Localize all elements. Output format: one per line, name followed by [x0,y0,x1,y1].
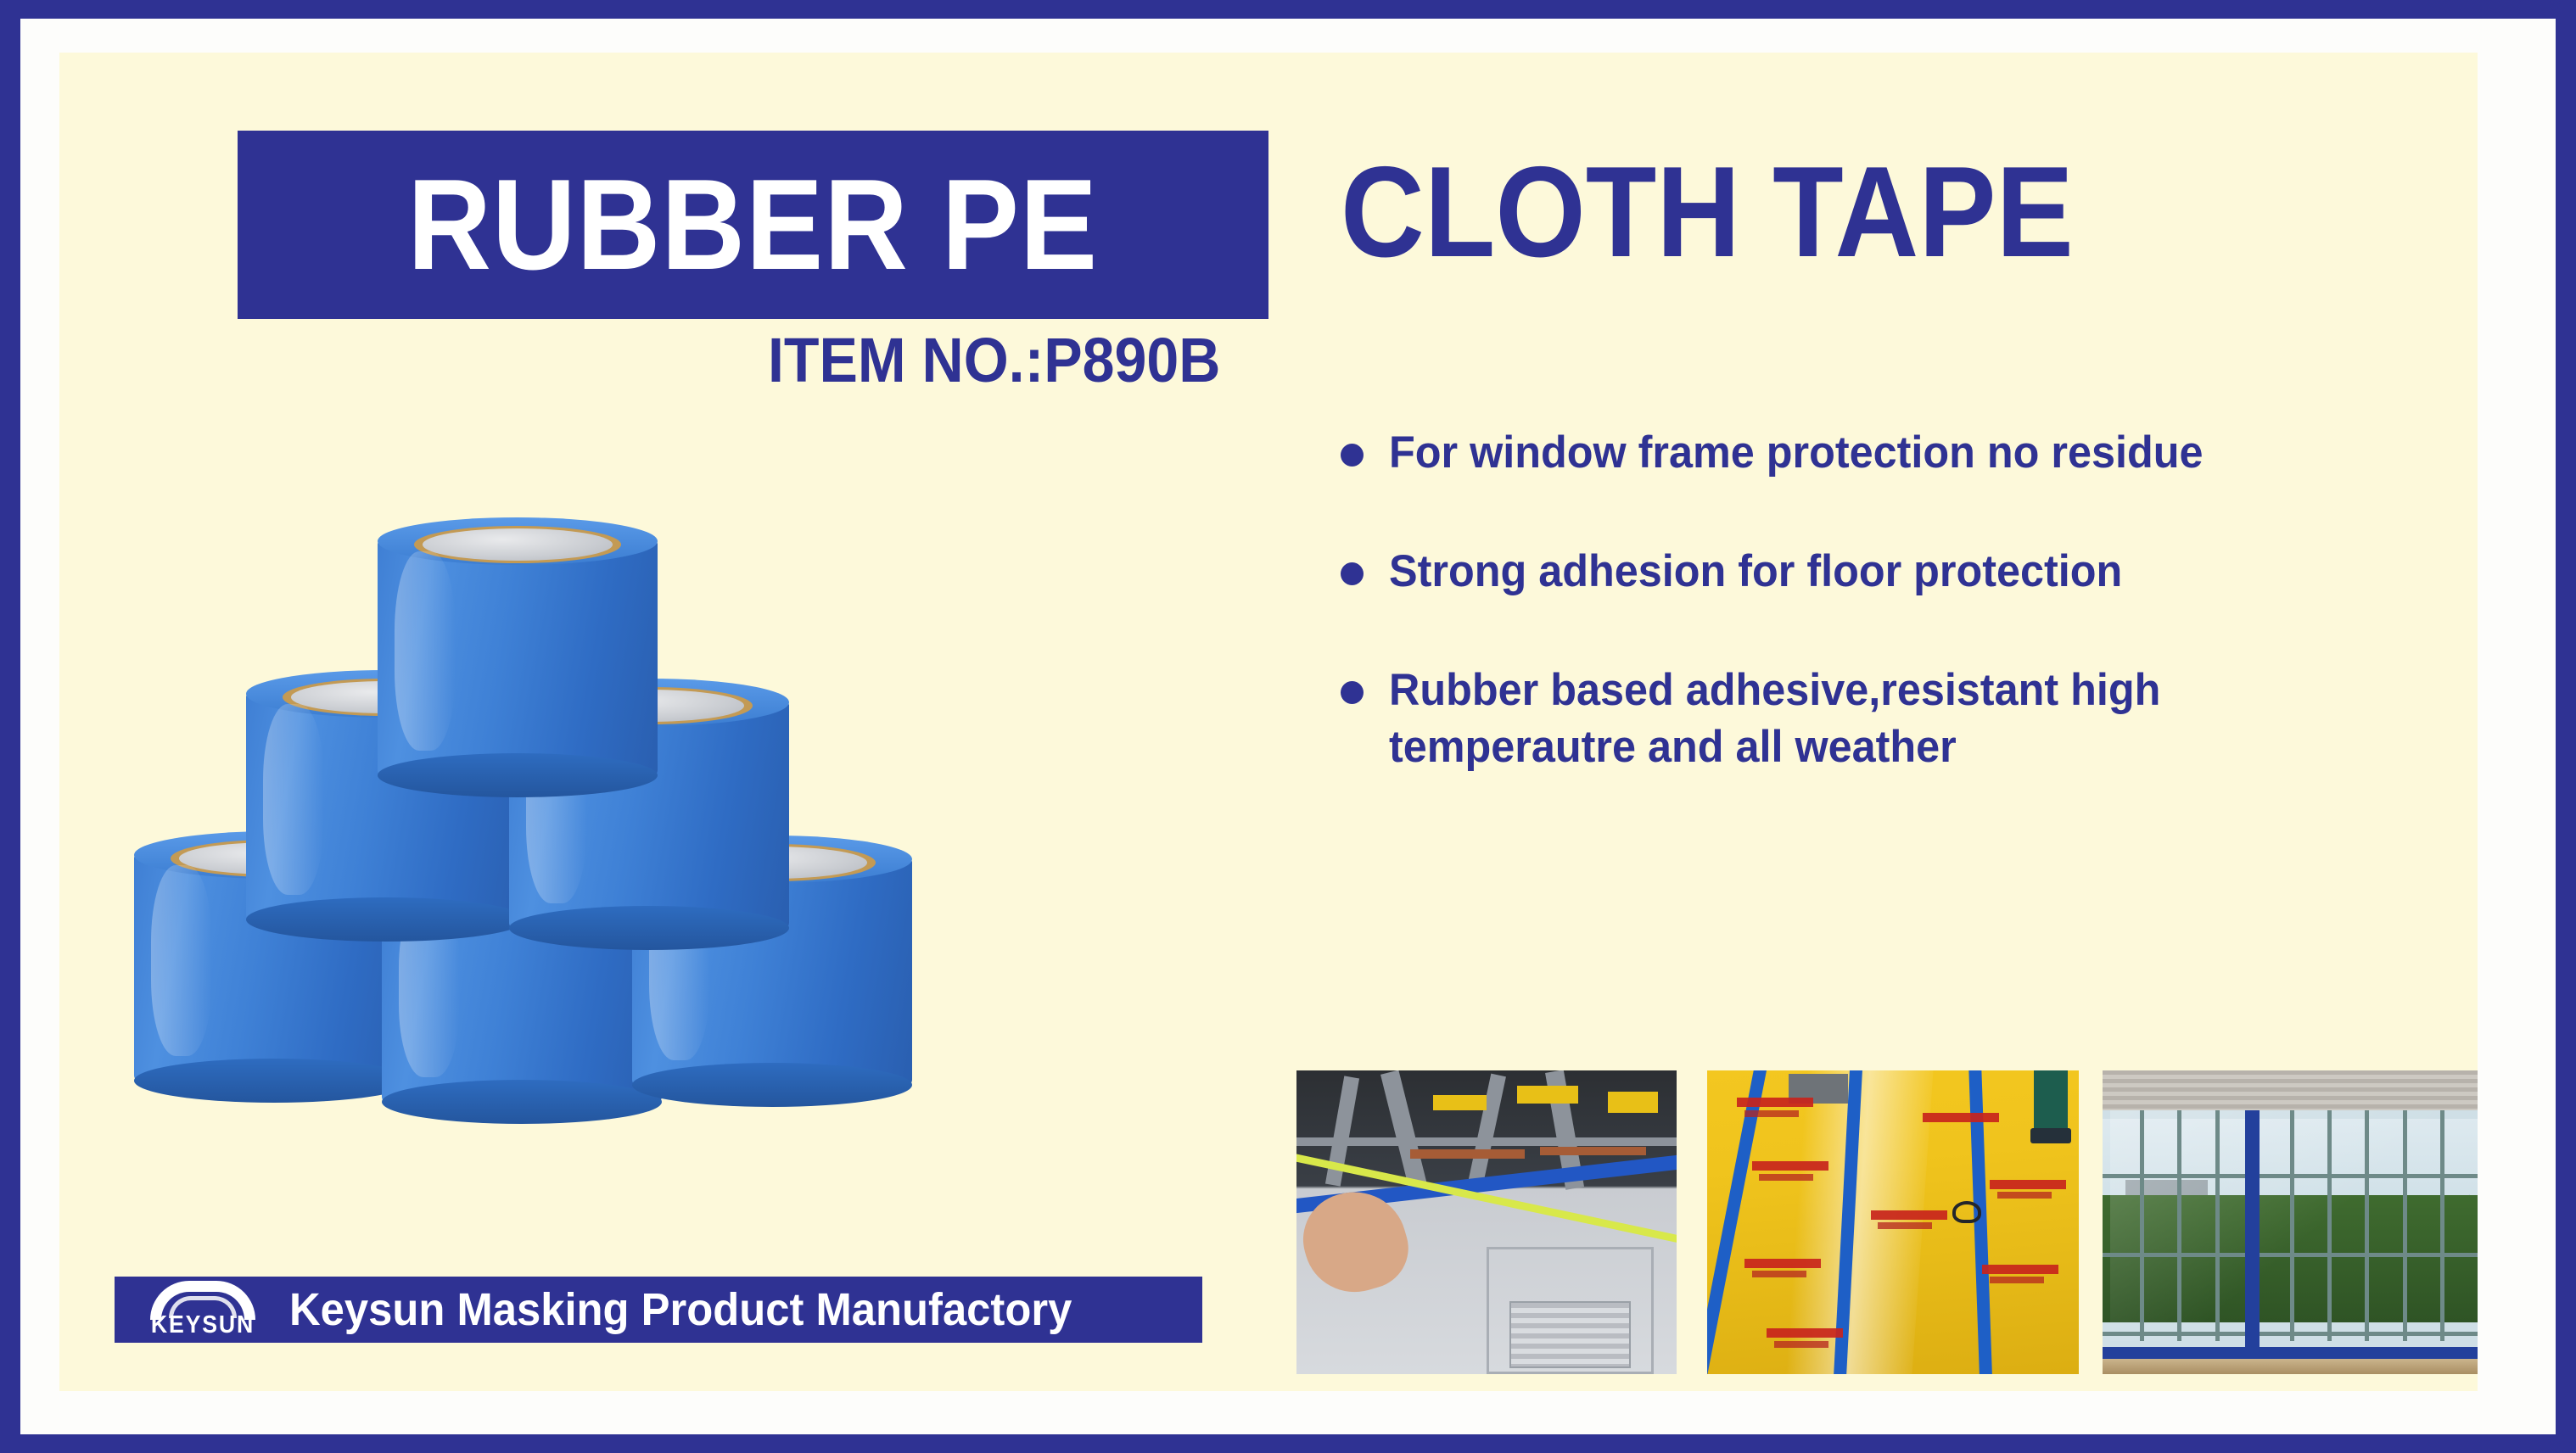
product-banner: RUBBER PE CLOTH TAPE ITEM NO.:P890B For … [0,0,2576,1453]
title-primary-text: RUBBER PE [408,160,1099,289]
brand-name-text: Keysun Masking Product Manufactory [289,1283,1072,1336]
item-number-label: ITEM NO.:P890B [768,324,1220,396]
application-photo-floor-protection [1707,1070,2079,1374]
title-secondary-text: CLOTH TAPE [1341,148,2074,277]
application-photo-window-frame [2103,1070,2478,1374]
product-photo-tape-rolls [153,500,1230,1120]
title-primary-badge: RUBBER PE [238,131,1268,319]
brand-footer-bar: KEYSUN Keysun Masking Product Manufactor… [115,1277,1202,1343]
feature-list: For window frame protection no residue S… [1341,424,2478,837]
feature-text: For window frame protection no residue [1389,424,2204,482]
feature-text: Rubber based adhesive,resistant high tem… [1389,662,2160,777]
feature-text: Strong adhesion for floor protection [1389,543,2122,601]
feature-item: For window frame protection no residue [1341,424,2478,482]
bullet-dot-icon [1341,444,1364,467]
feature-item: Rubber based adhesive,resistant high tem… [1341,662,2478,777]
application-photo-factory-taping [1296,1070,1677,1374]
logo-wordmark: KEYSUN [140,1311,265,1339]
application-photo-strip [1296,1070,2478,1374]
bullet-dot-icon [1341,562,1364,585]
tape-roll [378,517,658,797]
banner-heading: RUBBER PE CLOTH TAPE [178,119,2469,314]
keysun-logo-icon: KEYSUN [135,1279,271,1340]
feature-item: Strong adhesion for floor protection [1341,543,2478,601]
bullet-dot-icon [1341,681,1364,704]
